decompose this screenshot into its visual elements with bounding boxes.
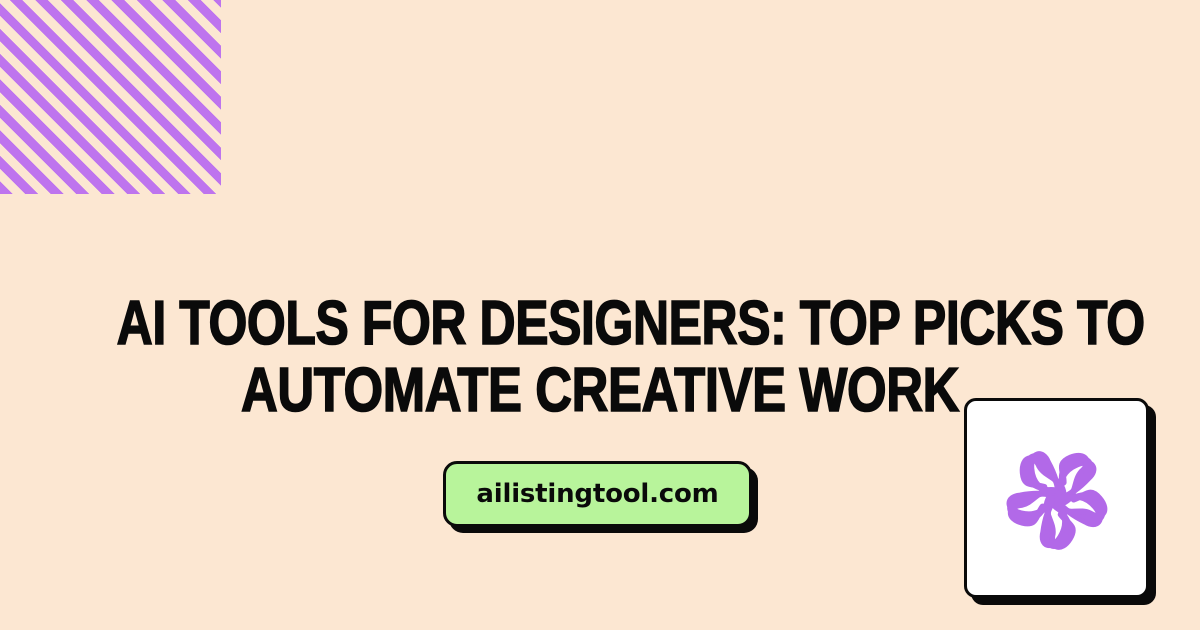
site-url-badge[interactable]: ailistingtool.com <box>443 461 752 527</box>
page-title-line-2: AUTOMATE CREATIVE WORK <box>107 357 1093 424</box>
logo-card <box>964 398 1149 598</box>
pinwheel-spiral-logo-icon <box>993 434 1121 562</box>
site-url-label: ailistingtool.com <box>476 481 718 507</box>
banner-canvas: AI TOOLS FOR DESIGNERS: TOP PICKS TO AUT… <box>0 0 1200 630</box>
page-title-line-1: AI TOOLS FOR DESIGNERS: TOP PICKS TO <box>117 290 1084 357</box>
diagonal-stripe-pattern <box>0 0 221 194</box>
